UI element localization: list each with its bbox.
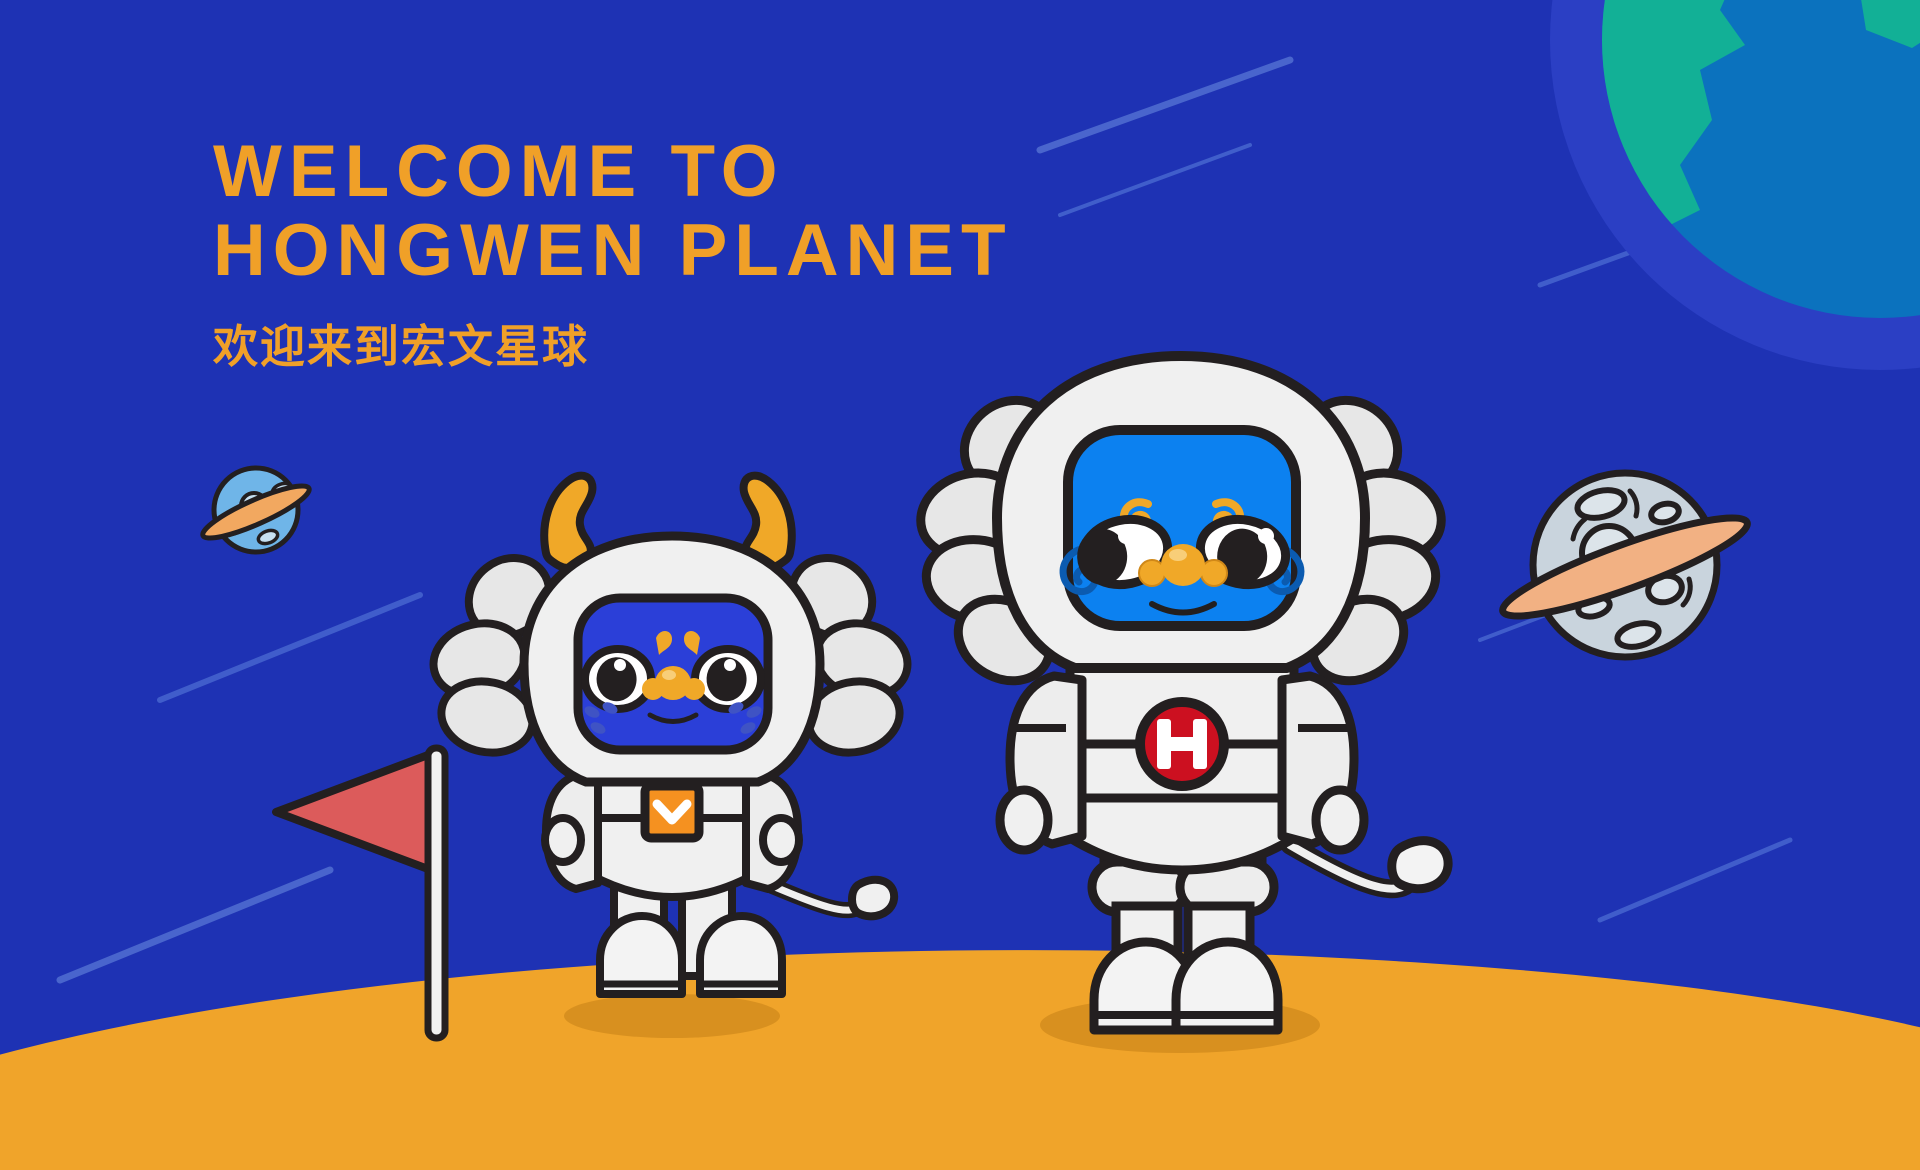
tail-tuft [1392, 841, 1448, 889]
tail-tuft [852, 880, 894, 917]
hand-left [545, 818, 581, 862]
suit-body [545, 763, 799, 994]
eye-glint-right [724, 659, 736, 671]
large-dragon-astronaut [911, 356, 1452, 1053]
helmet [997, 356, 1365, 668]
chest-badge [645, 786, 699, 838]
nose-highlight [1169, 549, 1187, 561]
hand-left [1000, 790, 1048, 850]
illustration-canvas: WELCOME TO HONGWEN PLANET 欢迎来到宏文星球 [0, 0, 1920, 1170]
planet-ground [0, 950, 1920, 1170]
foreground-layer [0, 0, 1920, 1170]
hand-right [763, 818, 799, 862]
flag-pole [428, 748, 445, 1038]
nose-highlight [662, 670, 676, 680]
eye-glint-left [1118, 528, 1134, 544]
eye-glint-right [1258, 528, 1274, 544]
helmet [524, 536, 820, 782]
flag-banner [276, 752, 436, 872]
ground-shadow [564, 994, 780, 1038]
eye-glint-left [614, 659, 626, 671]
hand-right [1316, 790, 1364, 850]
